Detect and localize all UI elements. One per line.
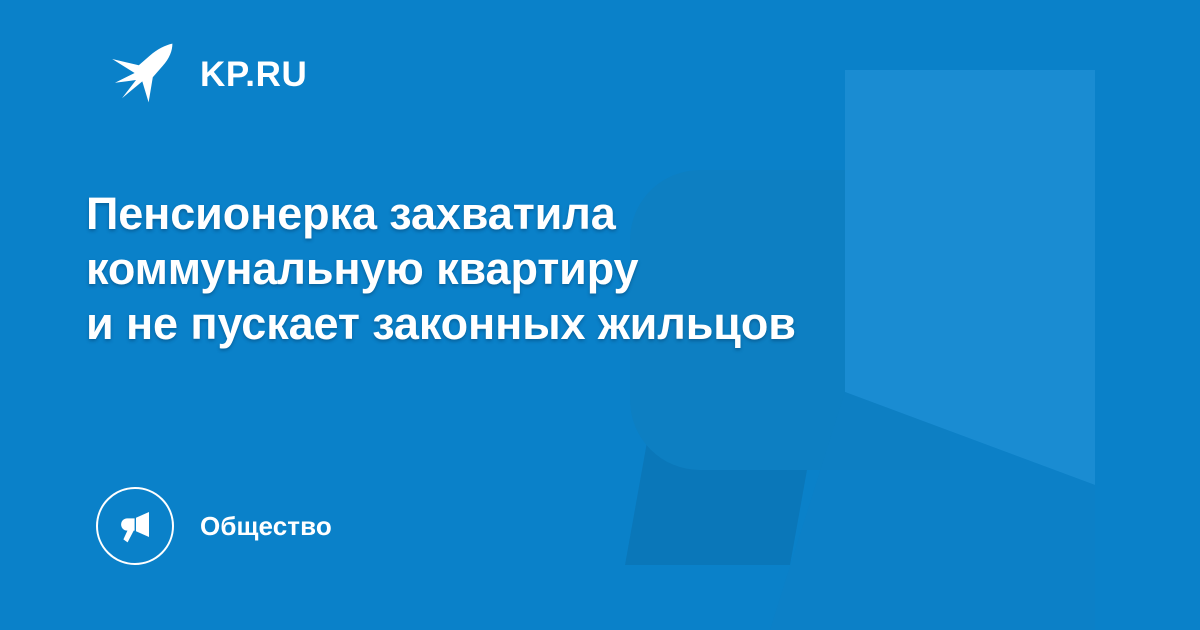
- brand-name: KP.RU: [200, 57, 307, 92]
- megaphone-icon: [115, 506, 155, 546]
- page-title: Пенсионерка захватила коммунальную кварт…: [86, 186, 1126, 351]
- category-label: Общество: [200, 513, 332, 539]
- share-card: KP.RU Пенсионерка захватила коммунальную…: [0, 0, 1200, 630]
- headline-line-2: коммунальную квартиру: [86, 241, 1126, 296]
- headline-line-3: и не пускает законных жильцов: [86, 296, 1126, 351]
- brand-logo[interactable]: KP.RU: [108, 36, 307, 110]
- headline-line-1: Пенсионерка захватила: [86, 186, 1126, 241]
- category-badge[interactable]: Общество: [96, 484, 332, 568]
- category-icon-circle: [96, 487, 174, 565]
- swallow-bird-icon: [108, 38, 178, 108]
